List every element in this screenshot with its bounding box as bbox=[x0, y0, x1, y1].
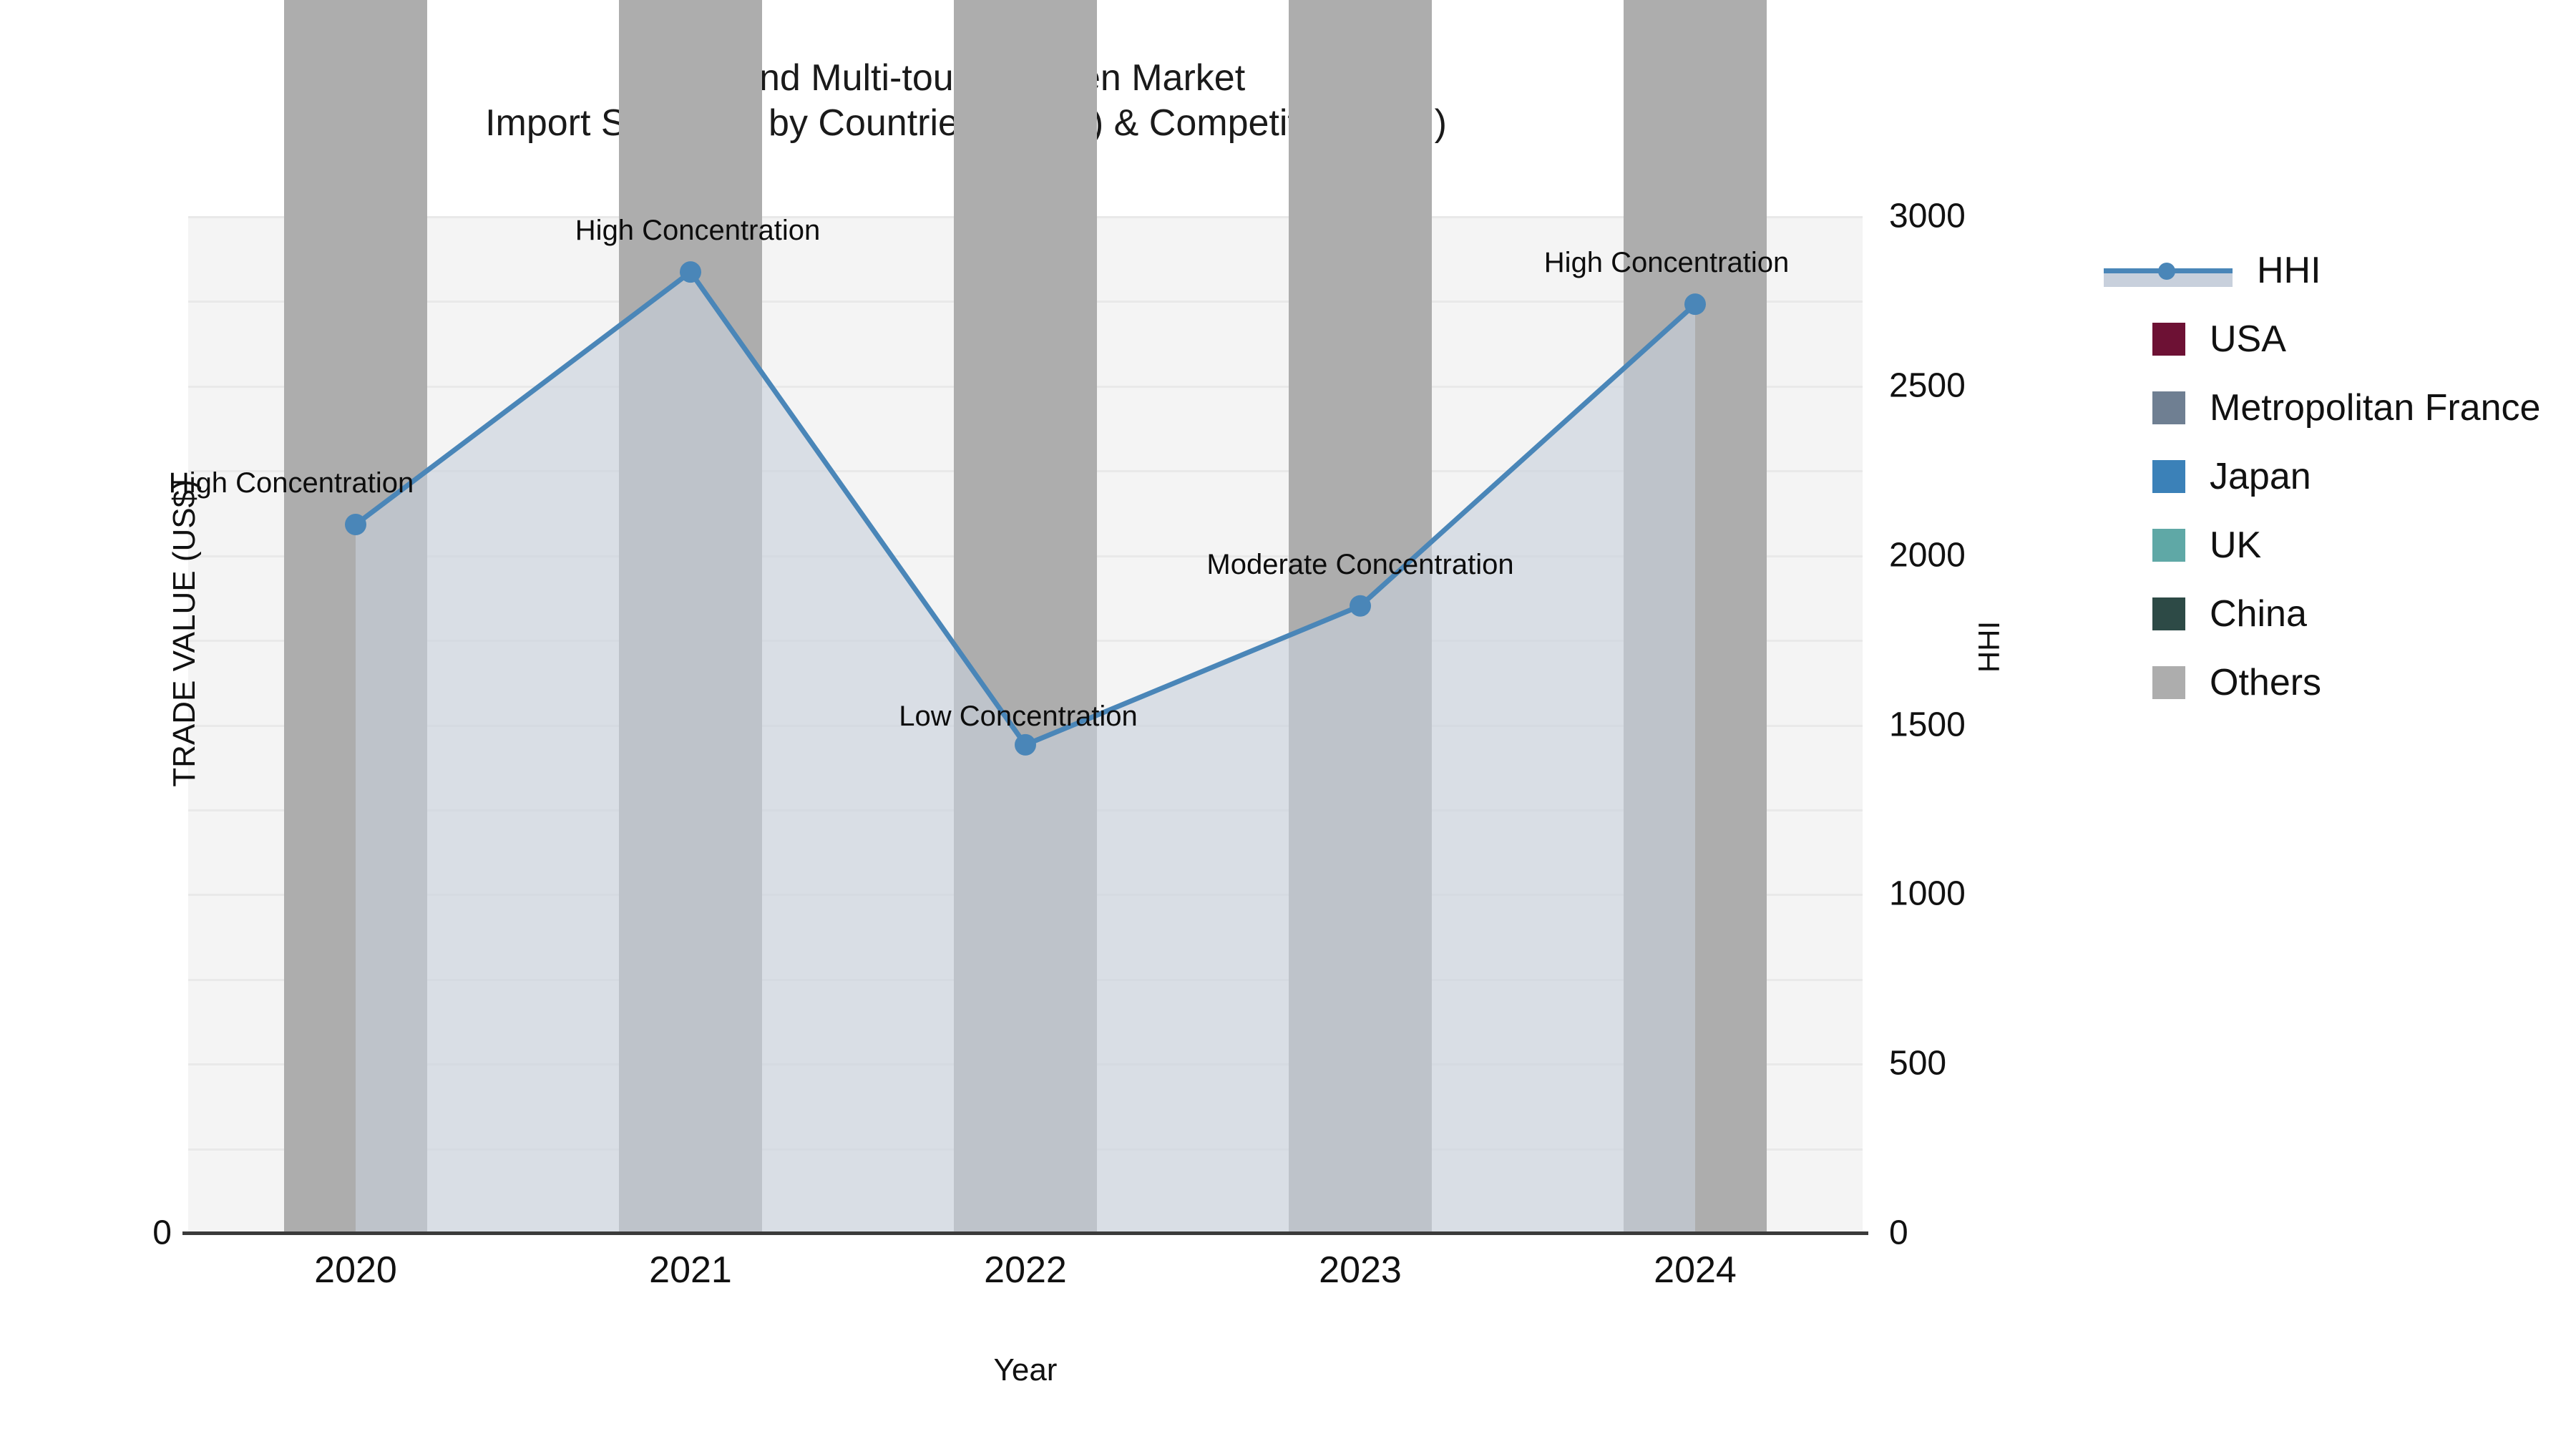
annotation-label: High Concentration bbox=[1544, 247, 1789, 279]
y-axis-left-label: TRADE VALUE (US$) bbox=[167, 433, 203, 834]
y-axis-right-tick: 500 bbox=[1889, 1044, 2104, 1083]
legend-swatch bbox=[2152, 597, 2185, 630]
legend-item-uk[interactable]: UK bbox=[2104, 511, 2562, 580]
y-axis-right-tick: 0 bbox=[1889, 1214, 2104, 1253]
gridline bbox=[188, 809, 1863, 811]
gridline bbox=[188, 894, 1863, 896]
y-axis-left-tick: 0 bbox=[14, 1214, 172, 1253]
legend-label: UK bbox=[2210, 527, 2261, 564]
gridline bbox=[188, 470, 1863, 472]
gridline bbox=[188, 1148, 1863, 1151]
legend-swatch bbox=[2152, 666, 2185, 699]
legend-item-usa[interactable]: USA bbox=[2104, 305, 2562, 374]
x-axis-tick: 2022 bbox=[984, 1249, 1067, 1292]
x-axis-tick: 2024 bbox=[1654, 1249, 1737, 1292]
gridline bbox=[188, 1063, 1863, 1065]
y-axis-right-tick: 1000 bbox=[1889, 874, 2104, 914]
y-axis-right-tick: 2500 bbox=[1889, 366, 2104, 405]
legend-label: China bbox=[2210, 595, 2307, 633]
x-axis-tick: 2023 bbox=[1319, 1249, 1402, 1292]
legend: HHIUSAMetropolitan FranceJapanUKChinaOth… bbox=[2104, 236, 2562, 717]
legend-item-metropolitan-france[interactable]: Metropolitan France bbox=[2104, 374, 2562, 442]
legend-item-hhi[interactable]: HHI bbox=[2104, 236, 2562, 305]
gridline bbox=[188, 640, 1863, 642]
annotation-label: High Concentration bbox=[169, 467, 414, 499]
x-axis-label: Year bbox=[188, 1352, 1863, 1388]
legend-swatch bbox=[2152, 391, 2185, 424]
annotation-label: High Concentration bbox=[575, 215, 820, 247]
legend-item-china[interactable]: China bbox=[2104, 580, 2562, 648]
gridline bbox=[188, 216, 1863, 218]
x-axis-tick: 2021 bbox=[649, 1249, 732, 1292]
y-axis-right-tick: 3000 bbox=[1889, 197, 2104, 236]
legend-item-japan[interactable]: Japan bbox=[2104, 442, 2562, 511]
legend-swatch bbox=[2152, 460, 2185, 493]
legend-label: Japan bbox=[2210, 458, 2311, 495]
legend-swatch bbox=[2152, 323, 2185, 356]
chart-title: Ireland Multi-touch Screen Market Import… bbox=[0, 56, 1932, 147]
chart-title-line1: Ireland Multi-touch Screen Market bbox=[687, 57, 1245, 99]
chart-canvas: Ireland Multi-touch Screen Market Import… bbox=[0, 0, 2576, 1449]
x-axis-line bbox=[182, 1231, 1868, 1235]
gridline bbox=[188, 555, 1863, 557]
legend-line-marker bbox=[2104, 254, 2233, 287]
x-axis-tick: 2020 bbox=[314, 1249, 397, 1292]
legend-label: Metropolitan France bbox=[2210, 389, 2540, 426]
legend-label: USA bbox=[2210, 321, 2286, 358]
chart-title-line2: Import Shipment by Countries (Top 5) & C… bbox=[0, 101, 1932, 146]
legend-label: HHI bbox=[2257, 252, 2321, 289]
legend-label: Others bbox=[2210, 664, 2321, 701]
gridline bbox=[188, 386, 1863, 388]
legend-item-others[interactable]: Others bbox=[2104, 648, 2562, 717]
gridline bbox=[188, 301, 1863, 303]
legend-swatch bbox=[2152, 529, 2185, 562]
y-axis-right-label: HHI bbox=[1972, 489, 2006, 804]
gridline bbox=[188, 979, 1863, 981]
annotation-label: Moderate Concentration bbox=[1206, 549, 1513, 581]
annotation-label: Low Concentration bbox=[899, 701, 1138, 733]
